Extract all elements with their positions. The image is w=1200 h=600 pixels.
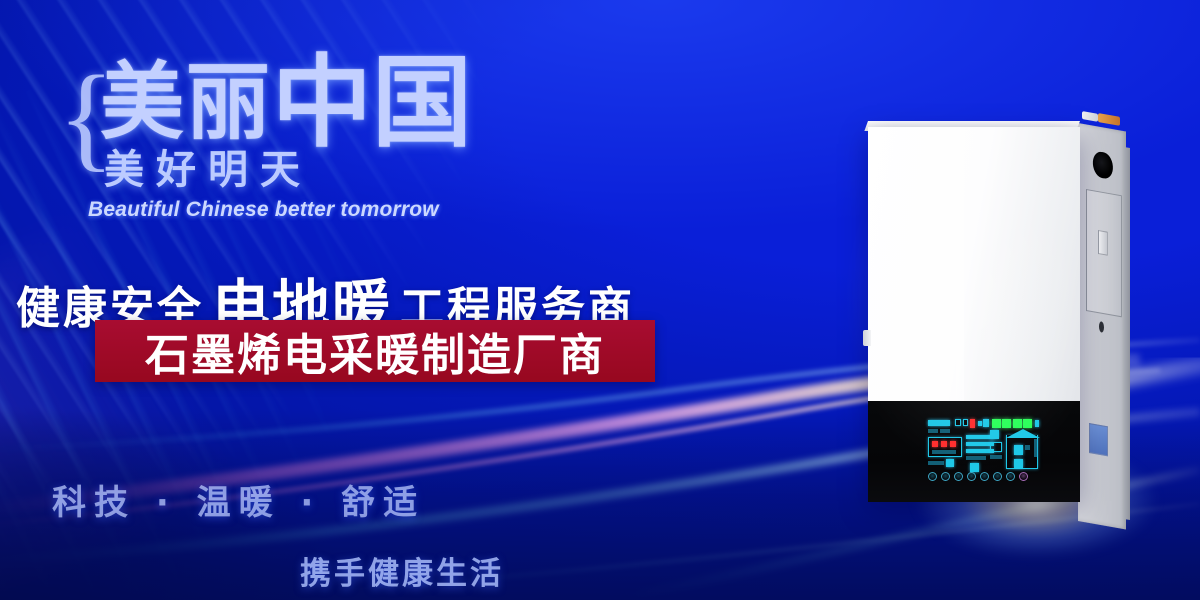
product-top-pipe-white bbox=[1082, 111, 1098, 122]
lcd-icon-flame bbox=[978, 421, 982, 426]
lcd-house-temp bbox=[1014, 445, 1023, 455]
product-side-blue-label bbox=[1089, 423, 1108, 456]
slogan-secondary: 携手健康生活 bbox=[300, 548, 504, 593]
promotional-banner: { 美丽中国 美好明天 Beautiful Chinese better tom… bbox=[0, 0, 1200, 600]
lcd-power-digit bbox=[983, 419, 989, 427]
red-banner-text: 石墨烯电采暖制造厂商 bbox=[95, 320, 655, 382]
lcd-icon-fan bbox=[963, 419, 968, 426]
lcd-mid-value bbox=[970, 463, 979, 472]
lcd-mode-a bbox=[928, 429, 938, 433]
lcd-button-timer[interactable] bbox=[993, 472, 1002, 481]
lcd-mode-b bbox=[940, 429, 950, 433]
lcd-clock-digit-1 bbox=[992, 419, 1001, 428]
logo-main-text: 美丽中国 bbox=[100, 54, 472, 145]
lcd-side-scale bbox=[1034, 439, 1038, 457]
lcd-stage-caption bbox=[932, 450, 956, 454]
lcd-stage-led-1 bbox=[932, 441, 938, 447]
lcd-alarm-digit bbox=[970, 419, 975, 428]
lcd-house-unit bbox=[1025, 445, 1030, 450]
product-side-screw bbox=[1099, 321, 1104, 333]
logo-english-tagline: Beautiful Chinese better tomorrow bbox=[88, 198, 439, 222]
logo-sub-text: 美好明天 bbox=[104, 148, 312, 192]
lcd-button-plus[interactable] bbox=[967, 472, 976, 481]
product-image-electric-boiler bbox=[860, 105, 1170, 535]
lcd-title-label bbox=[928, 420, 950, 426]
lcd-stage-led-2 bbox=[941, 441, 947, 447]
lcd-house-roof-icon bbox=[1006, 429, 1040, 438]
slogan-primary: 科技 · 温暖 · 舒适 bbox=[52, 475, 425, 524]
logo-main-part-a: 美丽 bbox=[100, 53, 272, 151]
lcd-stage-box bbox=[928, 437, 962, 457]
product-control-panel bbox=[868, 401, 1080, 502]
lcd-house-setpoint bbox=[1014, 459, 1023, 468]
lcd-left-value bbox=[946, 459, 954, 467]
lcd-water-temp bbox=[990, 430, 999, 439]
lcd-icon-pump bbox=[955, 419, 961, 426]
red-banner: 石墨烯电采暖制造厂商 bbox=[95, 320, 655, 382]
product-left-connector bbox=[863, 330, 871, 346]
lcd-button-minus[interactable] bbox=[954, 472, 963, 481]
logo-main-part-b: 中国 bbox=[272, 44, 472, 161]
product-top-pipe-copper bbox=[1098, 113, 1120, 126]
lcd-clock-digit-3 bbox=[1013, 419, 1022, 428]
brand-logo: { 美丽中国 美好明天 Beautiful Chinese better tom… bbox=[58, 48, 488, 228]
lcd-icon-radiator bbox=[990, 442, 1002, 452]
lcd-clock-digit-2 bbox=[1002, 419, 1011, 428]
lcd-stage-led-3 bbox=[950, 441, 956, 447]
lcd-clock-digit-4 bbox=[1023, 419, 1032, 428]
lcd-button-set[interactable] bbox=[980, 472, 989, 481]
lcd-button-power[interactable] bbox=[928, 472, 937, 481]
product-side-latch bbox=[1098, 230, 1108, 256]
lcd-right-label bbox=[990, 455, 1002, 459]
lcd-button-mode[interactable] bbox=[941, 472, 950, 481]
product-side-edge bbox=[1124, 147, 1130, 520]
lcd-button-clock[interactable] bbox=[1006, 472, 1015, 481]
product-lcd-display bbox=[926, 419, 1042, 481]
lcd-left-label-a bbox=[928, 461, 944, 465]
lcd-button-lock[interactable] bbox=[1019, 472, 1028, 481]
lcd-mid-bar-4 bbox=[966, 456, 986, 460]
lcd-wifi-icon bbox=[1035, 420, 1039, 427]
